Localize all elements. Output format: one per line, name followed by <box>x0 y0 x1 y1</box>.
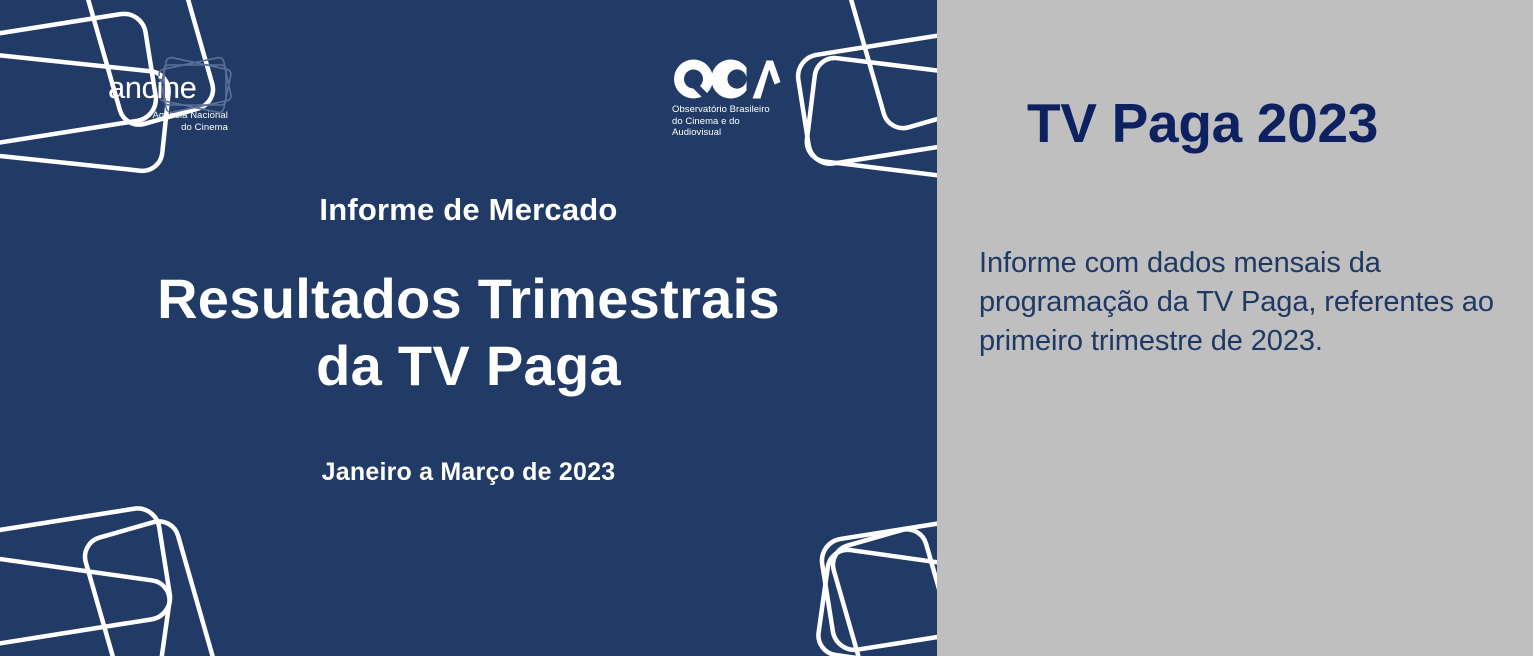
oca-logo: Observatório Brasileiro do Cinema e do A… <box>672 58 788 138</box>
side-panel: TV Paga 2023 Informe com dados mensais d… <box>937 0 1533 656</box>
ancine-tagline: Agência Nacional do Cinema <box>110 110 228 133</box>
cover-panel: ancine Agência Nacional do Cinema <box>0 0 937 656</box>
ancine-tagline-line-1: Agência Nacional <box>110 110 228 122</box>
corner-lineart-bottom-right-icon <box>780 500 937 656</box>
side-title: TV Paga 2023 <box>1027 92 1378 154</box>
ancine-logo: ancine Agência Nacional do Cinema <box>108 58 228 142</box>
cover-title: Resultados Trimestrais da TV Paga <box>0 265 937 399</box>
corner-lineart-bottom-left-icon <box>0 500 278 656</box>
cover-title-line-1: Resultados Trimestrais <box>157 267 780 330</box>
oca-tagline-line-2: do Cinema e do Audiovisual <box>672 116 788 139</box>
cover-period: Janeiro a Março de 2023 <box>0 458 937 487</box>
ancine-tagline-line-2: do Cinema <box>110 122 228 134</box>
cover-page: ancine Agência Nacional do Cinema <box>0 0 1533 656</box>
cover-kicker: Informe de Mercado <box>0 192 937 228</box>
ancine-wordmark: ancine <box>108 72 196 103</box>
cover-title-line-2: da TV Paga <box>0 332 937 399</box>
oca-monogram-icon <box>672 58 782 105</box>
oca-tagline-line-1: Observatório Brasileiro <box>672 104 788 116</box>
oca-tagline: Observatório Brasileiro do Cinema e do A… <box>672 104 788 139</box>
side-description: Informe com dados mensais da programação… <box>979 244 1524 361</box>
